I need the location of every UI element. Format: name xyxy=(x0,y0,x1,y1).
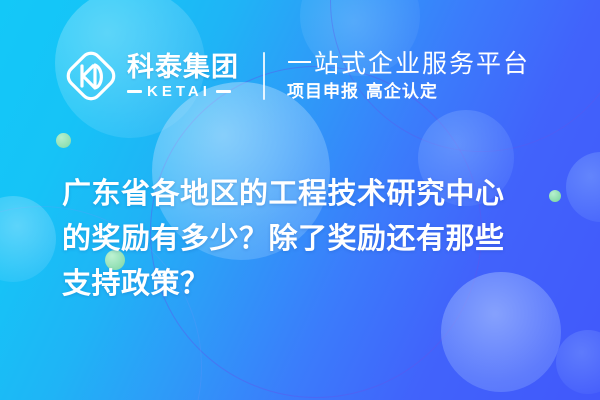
ketai-diamond-monogram-icon xyxy=(62,47,120,105)
brand-logo-wordmark: 科泰集团 KETAI xyxy=(127,53,239,99)
background-circle-left-lower xyxy=(0,196,56,282)
brand-logo: 科泰集团 KETAI xyxy=(62,47,239,105)
brand-name-en: KETAI xyxy=(147,84,211,99)
background-circle-bottom-far-right xyxy=(556,330,600,394)
tagline-main: 一站式企业服务平台 xyxy=(287,49,530,79)
background-circle-far-right xyxy=(566,152,600,222)
brand-name-en-row: KETAI xyxy=(127,84,239,99)
tagline-block: 一站式企业服务平台 项目申报 高企认定 xyxy=(287,49,530,103)
dash-right-icon xyxy=(216,90,231,93)
headline-line-1: 广东省各地区的工程技术研究中心 xyxy=(62,171,562,216)
tagline-sub: 项目申报 高企认定 xyxy=(287,83,530,103)
brand-name-cn: 科泰集团 xyxy=(127,53,239,81)
promo-banner: 科泰集团 KETAI 一站式企业服务平台 项目申报 高企认定 广东省各地区的工程… xyxy=(0,0,600,400)
green-accent-dot-upper-left xyxy=(56,133,71,148)
headline-line-2: 的奖励有多少？除了奖励还有那些 xyxy=(62,216,562,261)
banner-header: 科泰集团 KETAI 一站式企业服务平台 项目申报 高企认定 xyxy=(0,38,600,114)
dash-left-icon xyxy=(127,90,142,93)
headline-line-3: 支持政策？ xyxy=(62,261,562,306)
header-divider xyxy=(263,52,265,100)
headline: 广东省各地区的工程技术研究中心 的奖励有多少？除了奖励还有那些 支持政策？ xyxy=(62,171,562,306)
